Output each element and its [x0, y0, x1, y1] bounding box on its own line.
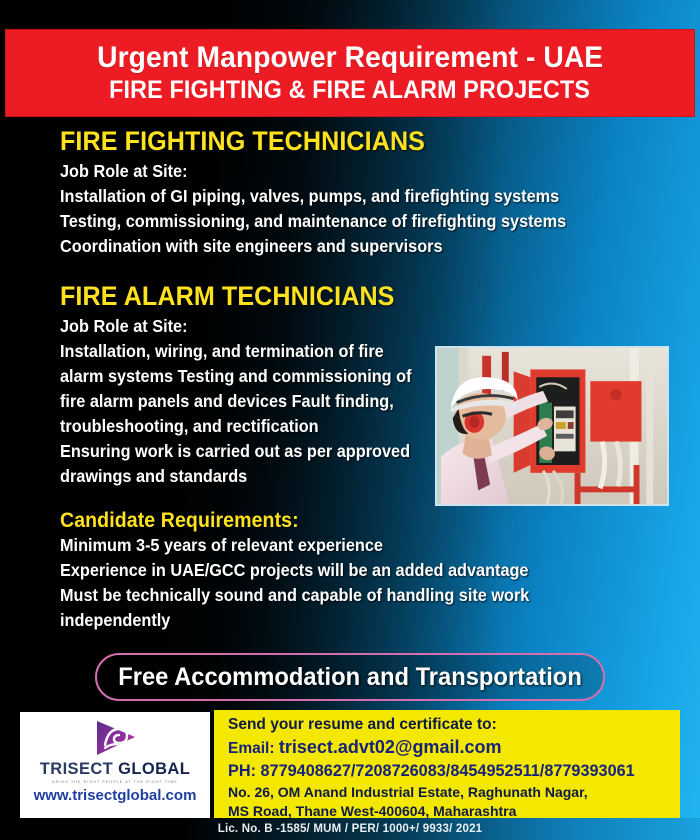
- section-candidate-requirements: Candidate Requirements: Minimum 3-5 year…: [0, 509, 700, 633]
- duty-line: alarm systems Testing and commissioning …: [60, 364, 427, 389]
- address-line-1: No. 26, OM Anand Industrial Estate, Ragh…: [228, 784, 680, 801]
- job-role-label-fire-alarm: Job Role at Site:: [60, 314, 427, 339]
- email-address[interactable]: trisect.advt02@gmail.com: [279, 737, 502, 757]
- company-name-part1: TRISECT: [40, 760, 118, 778]
- duty-line: Installation, wiring, and termination of…: [60, 339, 427, 364]
- trisect-play-logo-icon: [92, 718, 138, 758]
- phone-numbers[interactable]: PH: 8779408627/7208726083/8454952511/877…: [228, 761, 673, 782]
- company-logo-box: TRISECT GLOBAL BRING THE RIGHT PEOPLE AT…: [20, 712, 210, 818]
- section-title-candidate-requirements: Candidate Requirements:: [60, 509, 638, 533]
- duty-line: Installation of GI piping, valves, pumps…: [60, 184, 638, 209]
- poster-header-band: Urgent Manpower Requirement - UAE FIRE F…: [5, 29, 695, 117]
- header-title-primary: Urgent Manpower Requirement - UAE: [97, 42, 603, 74]
- section-title-fire-alarm: FIRE ALARM TECHNICIANS: [60, 281, 638, 312]
- technician-photo: [435, 346, 669, 506]
- section-title-fire-fighting: FIRE FIGHTING TECHNICIANS: [60, 126, 638, 157]
- send-resume-label: Send your resume and certificate to:: [228, 715, 680, 735]
- duty-line: troubleshooting, and rectification: [60, 414, 427, 439]
- section-fire-fighting-technicians: FIRE FIGHTING TECHNICIANS Job Role at Si…: [0, 126, 700, 259]
- duty-line: Ensuring work is carried out as per appr…: [60, 439, 427, 464]
- job-role-label-fire-fighting: Job Role at Site:: [60, 159, 638, 184]
- company-tagline: BRING THE RIGHT PEOPLE AT THE RIGHT TIME: [52, 780, 178, 784]
- technician-photo-illustration: [437, 348, 667, 504]
- license-number: Lic. No. B -1585/ MUM / PER/ 1000+/ 9933…: [218, 823, 483, 835]
- company-name: TRISECT GLOBAL: [40, 761, 190, 778]
- recruitment-poster: Urgent Manpower Requirement - UAE FIRE F…: [0, 0, 700, 840]
- requirement-line: Minimum 3-5 years of relevant experience: [60, 533, 638, 558]
- requirement-line: Must be technically sound and capable of…: [60, 583, 638, 633]
- duty-line: fire alarm panels and devices Fault find…: [60, 389, 427, 414]
- duty-line: Testing, commissioning, and maintenance …: [60, 209, 638, 234]
- license-bar: Lic. No. B -1585/ MUM / PER/ 1000+/ 9933…: [0, 818, 700, 840]
- company-website[interactable]: www.trisectglobal.com: [34, 787, 197, 804]
- email-label: Email:: [228, 740, 279, 757]
- benefits-banner: Free Accommodation and Transportation: [95, 653, 605, 701]
- header-title-secondary: FIRE FIGHTING & FIRE ALARM PROJECTS: [109, 76, 590, 104]
- company-name-part2: GLOBAL: [118, 760, 190, 778]
- duty-line: drawings and standards: [60, 464, 427, 489]
- requirement-line: Experience in UAE/GCC projects will be a…: [60, 558, 638, 583]
- duty-line: Coordination with site engineers and sup…: [60, 234, 638, 259]
- email-line[interactable]: Email: trisect.advt02@gmail.com: [228, 736, 680, 759]
- benefits-banner-text: Free Accommodation and Transportation: [118, 663, 582, 692]
- contact-details-panel: Send your resume and certificate to: Ema…: [214, 710, 680, 818]
